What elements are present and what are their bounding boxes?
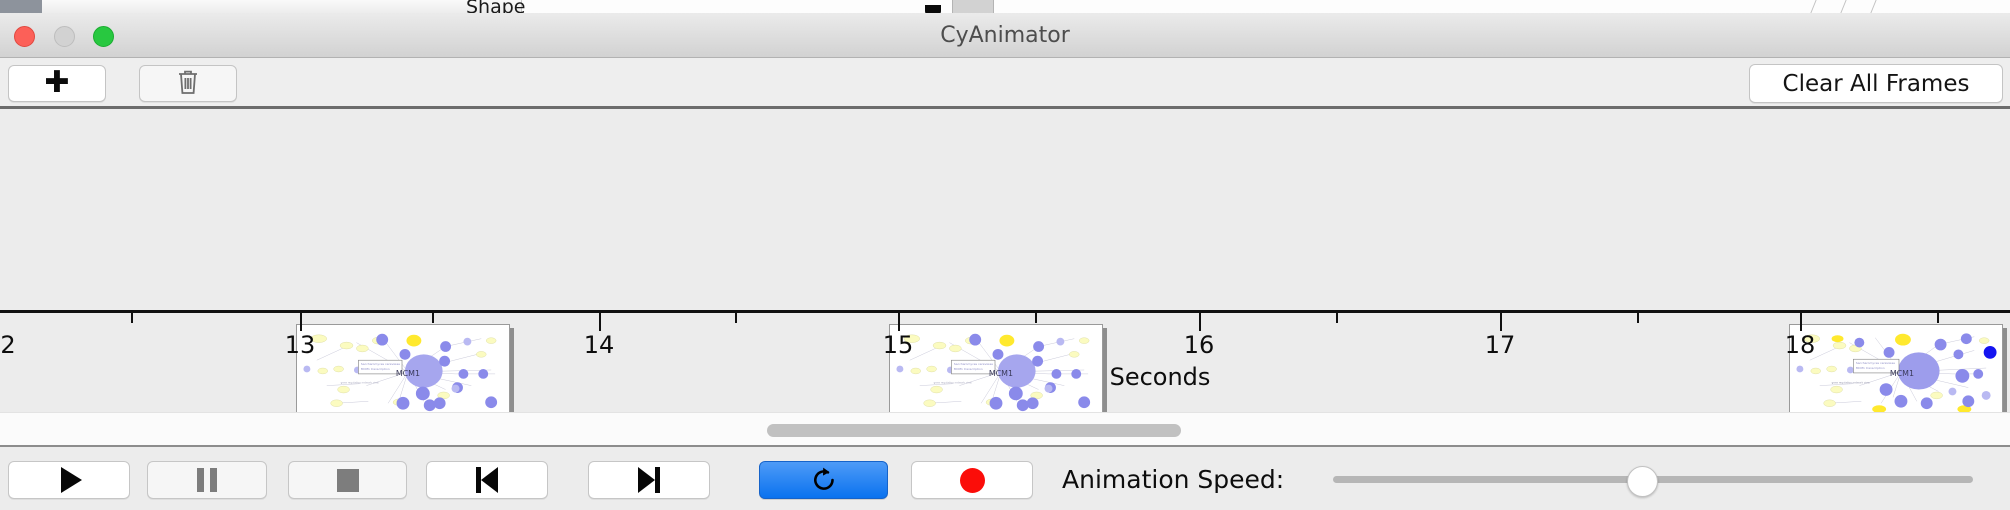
axis-tick-label: 17 (1485, 331, 1516, 359)
background-segment (204, 0, 240, 13)
axis-tick-major (1500, 313, 1502, 331)
axis-tick-major (300, 313, 302, 331)
background-divider (1870, 0, 1876, 13)
pause-icon (197, 468, 217, 492)
axis-tick-major (599, 313, 601, 331)
clear-all-frames-button[interactable]: Clear All Frames (1749, 64, 2003, 103)
stop-icon (337, 469, 359, 492)
frame-toolbar: ✚ Clear All Frames (0, 58, 2010, 109)
background-cursor-marker (925, 5, 941, 13)
skip-forward-icon (638, 467, 660, 493)
delete-frame-button[interactable] (139, 65, 237, 102)
clear-all-frames-label: Clear All Frames (1783, 71, 1970, 97)
background-window-label: Shape (466, 0, 526, 13)
trash-icon (177, 69, 199, 99)
axis-tick-minor (1937, 313, 1939, 323)
timeline-panel[interactable]: Saccharomyces cerevisiae MCM1 transcript… (0, 109, 2010, 412)
axis-tick-minor (131, 313, 133, 323)
cyanimator-window: Shape CyAnimator ✚ (0, 0, 2010, 510)
axis-tick-minor (1637, 313, 1639, 323)
axis-tick-minor (1035, 313, 1037, 323)
timeline-scrollbar-track[interactable] (0, 412, 2010, 445)
axis-tick-minor (735, 313, 737, 323)
axis-tick-label: 15 (883, 331, 914, 359)
add-frame-button[interactable]: ✚ (8, 65, 106, 102)
axis-tick-major (898, 313, 900, 331)
playback-control-bar: Animation Speed: (0, 445, 2010, 510)
axis-tick-label: 2 (0, 331, 15, 359)
background-gray-box (952, 0, 994, 13)
axis-title-text: Seconds (1110, 363, 1211, 391)
loop-button[interactable] (759, 461, 888, 499)
animation-speed-slider-thumb[interactable] (1627, 466, 1658, 497)
title-bar[interactable]: CyAnimator (0, 13, 2010, 58)
axis-tick-minor (432, 313, 434, 323)
skip-back-icon (476, 467, 498, 493)
window-title: CyAnimator (0, 13, 2010, 58)
play-icon (61, 467, 82, 493)
axis-tick-label: 16 (1184, 331, 1215, 359)
record-icon (960, 468, 985, 493)
axis-title: Seconds (0, 363, 2010, 391)
background-dark-block (0, 0, 42, 13)
background-segment (239, 0, 290, 13)
axis-tick-label: 14 (584, 331, 615, 359)
background-window-strip: Shape (0, 0, 2010, 13)
play-button[interactable] (8, 461, 130, 499)
axis-tick-major (1199, 313, 1201, 331)
axis-tick-label: 13 (285, 331, 316, 359)
background-segment (289, 0, 398, 13)
plus-icon: ✚ (44, 68, 69, 98)
animation-speed-label: Animation Speed: (1062, 447, 1284, 510)
first-frame-button[interactable] (426, 461, 548, 499)
background-divider (1840, 0, 1846, 13)
last-frame-button[interactable] (588, 461, 710, 499)
background-segment (107, 0, 193, 13)
stop-button[interactable] (288, 461, 407, 499)
axis-tick-minor (1336, 313, 1338, 323)
background-segment (42, 0, 108, 13)
timeline-scrollbar-thumb[interactable] (767, 424, 1181, 437)
record-button[interactable] (911, 461, 1033, 499)
loop-icon (810, 466, 838, 494)
background-divider (1810, 0, 1816, 13)
pause-button[interactable] (147, 461, 267, 499)
axis-tick-major (1800, 313, 1802, 331)
axis-tick-label: 18 (1785, 331, 1816, 359)
